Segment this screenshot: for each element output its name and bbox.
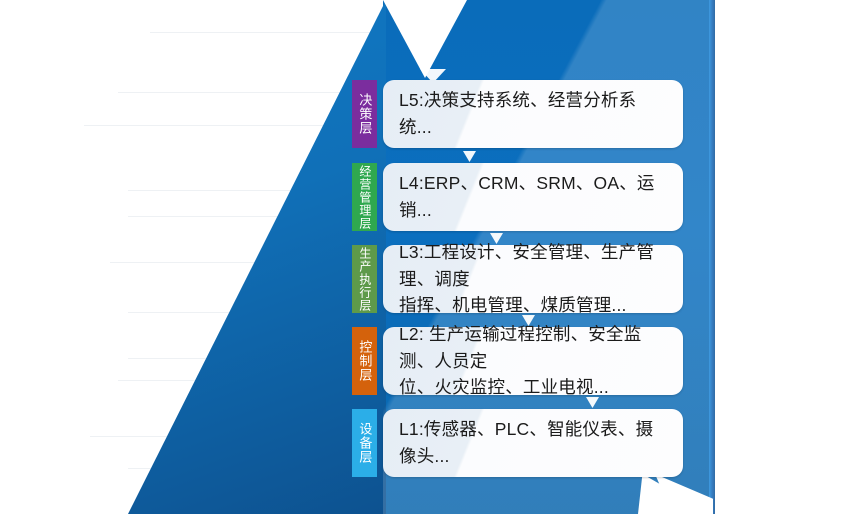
level-card-l2[interactable]: L2: 生产运输过程控制、安全监测、人员定 位、火灾监控、工业电视... xyxy=(383,327,683,395)
level-card-text-l3: L3:工程设计、安全管理、生产管理、调度 指挥、机电管理、煤质管理... xyxy=(399,239,667,319)
level-tag-l2: 控制层 xyxy=(352,327,377,395)
panel-right-edge xyxy=(709,0,715,514)
level-card-l4[interactable]: L4:ERP、CRM、SRM、OA、运销... xyxy=(383,163,683,231)
level-card-l3[interactable]: L3:工程设计、安全管理、生产管理、调度 指挥、机电管理、煤质管理... xyxy=(383,245,683,313)
level-card-text-l4: L4:ERP、CRM、SRM、OA、运销... xyxy=(399,170,667,223)
level-row-l1[interactable]: 设备层 L1:传感器、PLC、智能仪表、摄像头... xyxy=(352,409,683,477)
level-row-l3[interactable]: 生产执行层 L3:工程设计、安全管理、生产管理、调度 指挥、机电管理、煤质管理.… xyxy=(352,245,683,313)
level-tag-l3: 生产执行层 xyxy=(352,245,377,313)
diagram-canvas: 决策层 L5:决策支持系统、经营分析系统... 经营管理层 L4:ERP、CRM… xyxy=(0,0,856,514)
level-row-l2[interactable]: 控制层 L2: 生产运输过程控制、安全监测、人员定 位、火灾监控、工业电视... xyxy=(352,327,683,395)
level-tag-l1: 设备层 xyxy=(352,409,377,477)
level-card-l5[interactable]: L5:决策支持系统、经营分析系统... xyxy=(383,80,683,148)
level-card-text-l2: L2: 生产运输过程控制、安全监测、人员定 位、火灾监控、工业电视... xyxy=(399,321,667,401)
level-row-l4[interactable]: 经营管理层 L4:ERP、CRM、SRM、OA、运销... xyxy=(352,163,683,231)
level-card-text-l5: L5:决策支持系统、经营分析系统... xyxy=(399,87,667,140)
level-tag-l4: 经营管理层 xyxy=(352,163,377,231)
level-tag-l5: 决策层 xyxy=(352,80,377,148)
level-row-l5[interactable]: 决策层 L5:决策支持系统、经营分析系统... xyxy=(352,80,683,148)
level-card-text-l1: L1:传感器、PLC、智能仪表、摄像头... xyxy=(399,416,667,469)
level-card-l1[interactable]: L1:传感器、PLC、智能仪表、摄像头... xyxy=(383,409,683,477)
